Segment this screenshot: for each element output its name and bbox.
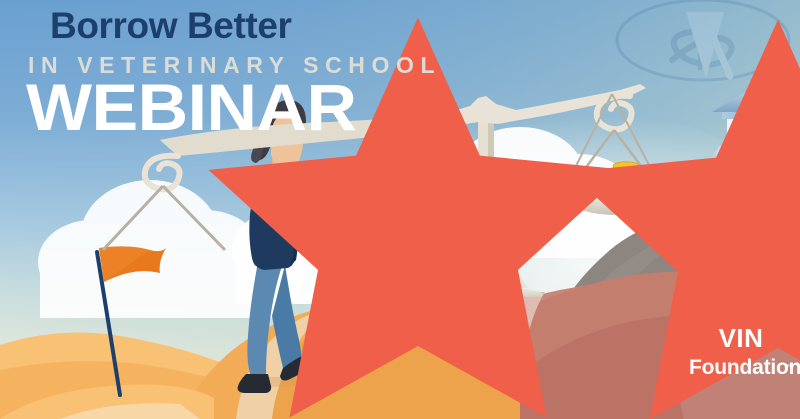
svg-text:$: $: [392, 187, 420, 243]
borrow-better-webinar-banner: $ $: [0, 0, 800, 419]
banner-artwork: $ $: [0, 0, 800, 419]
